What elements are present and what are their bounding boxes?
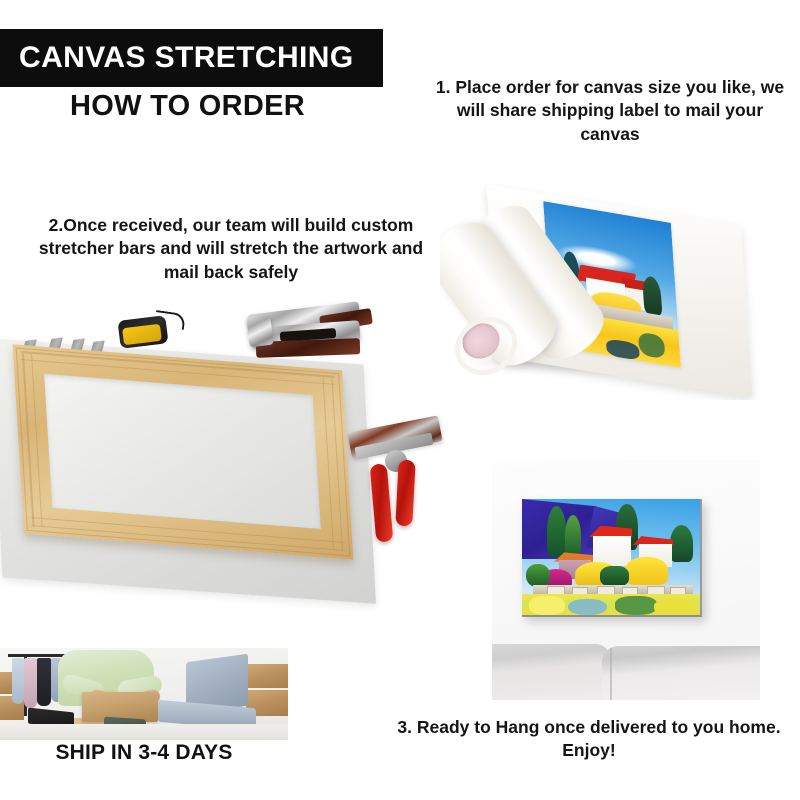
step-1-text: 1. Place order for canvas size you like,…: [432, 76, 788, 146]
artwork-foreground-dab: [654, 599, 697, 615]
staple-gun-upper-nose: [246, 315, 273, 348]
hanging-garment: [24, 658, 37, 708]
clothes-rack-bar: [8, 654, 66, 657]
staple-gun-upper: [248, 302, 376, 368]
page-title: CANVAS STRETCHING: [0, 41, 354, 75]
stretcher-frame-opening: [44, 374, 321, 529]
stretcher-bar-workbench-photo: [0, 300, 445, 630]
ship-in-days-label: SHIP IN 3-4 DAYS: [0, 741, 288, 765]
artwork-foreground-dab: [568, 599, 607, 615]
tape-measure-tool: [119, 314, 169, 348]
step-3-text: 3. Ready to Hang once delivered to you h…: [382, 716, 796, 763]
pliers-handle-left: [370, 463, 394, 542]
hanging-garment: [12, 658, 24, 704]
artwork-cypress-tree: [547, 506, 567, 557]
hung-canvas-on-wall-photo: [492, 460, 760, 700]
stretched-canvas-artwork: [522, 499, 702, 617]
step-2-text: 2.Once received, our team will build cus…: [36, 214, 426, 284]
rolled-canvas-print-photo: [440, 178, 785, 400]
sofa-cushion-right: [602, 646, 760, 700]
sofa-seam: [610, 648, 612, 700]
page-title-bar: CANVAS STRETCHING: [0, 29, 383, 87]
wooden-stretcher-frame: [13, 344, 354, 559]
desk-surface: [0, 724, 288, 740]
artwork-yellow-bush: [625, 557, 668, 585]
artwork-foreground-dab: [529, 596, 565, 615]
artwork-foreground-dab: [615, 596, 658, 615]
cardboard-box-stack: [248, 664, 288, 688]
artwork-green-shrub: [526, 564, 551, 587]
canvas-stretching-pliers: [345, 420, 443, 560]
artwork-cypress-tree: [565, 515, 581, 557]
sofa-cushion-left: [492, 644, 610, 700]
page-subtitle: HOW TO ORDER: [0, 90, 375, 123]
infographic-page: CANVAS STRETCHING HOW TO ORDER 1. Place …: [0, 0, 800, 800]
hanging-garment: [37, 658, 51, 706]
pliers-handle-right: [395, 460, 415, 527]
order-packing-photo: [0, 648, 288, 740]
